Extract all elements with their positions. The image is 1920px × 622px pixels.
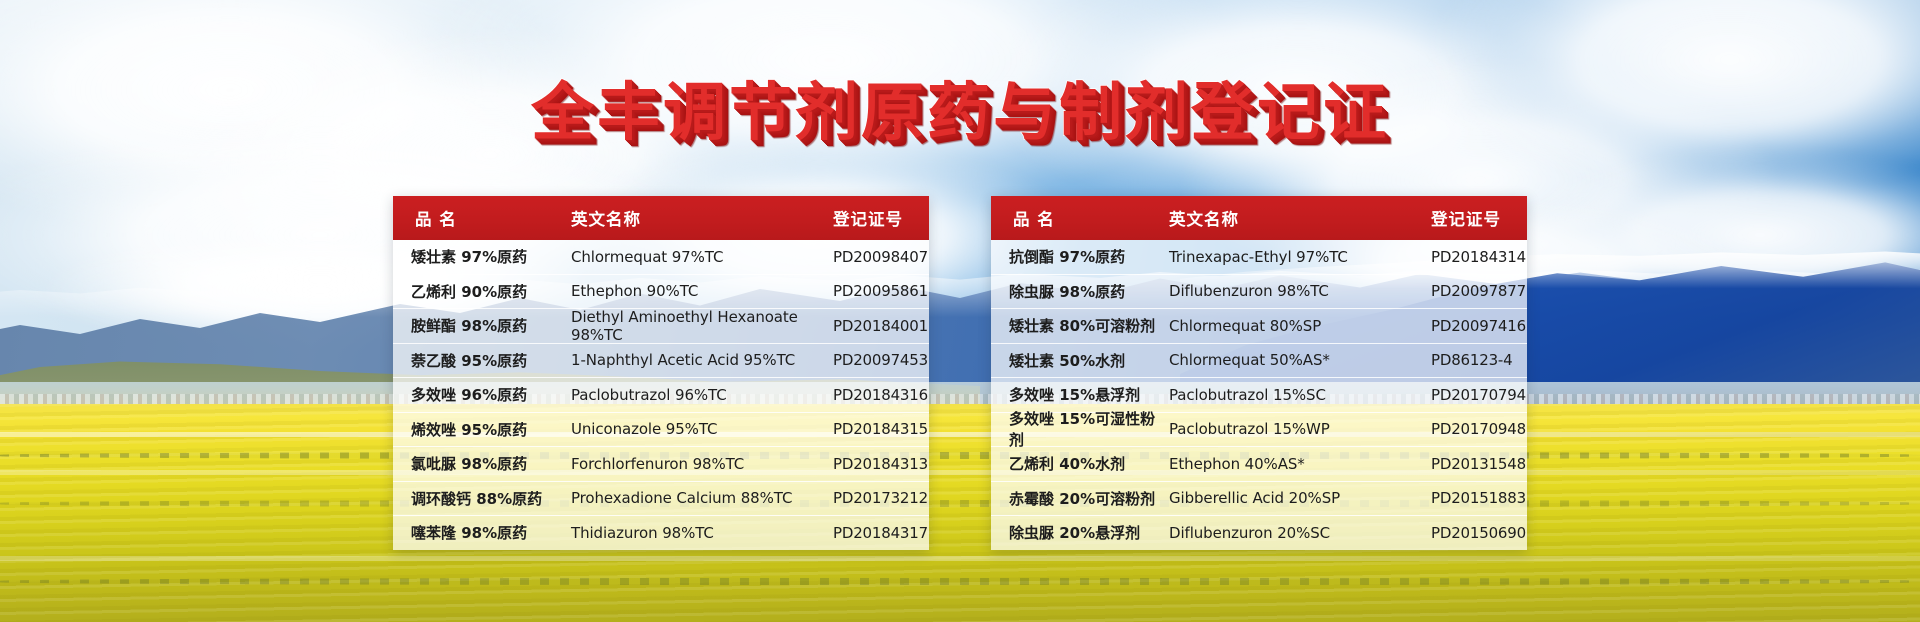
cell-product-name: 矮壮素 50%水剂 bbox=[991, 350, 1169, 371]
registration-tables: 品 名 英文名称 登记证号 矮壮素 97%原药 Chlormequat 97%T… bbox=[0, 196, 1920, 550]
cell-registration-no: PD20097877 bbox=[1431, 282, 1527, 300]
cell-registration-no: PD20184314 bbox=[1431, 248, 1527, 266]
column-header-registration: 登记证号 bbox=[1431, 206, 1527, 230]
table-row: 抗倒酯 97%原药 Trinexapac-Ethyl 97%TC PD20184… bbox=[991, 240, 1527, 275]
table-row: 矮壮素 80%可溶粉剂 Chlormequat 80%SP PD20097416 bbox=[991, 309, 1527, 344]
cell-registration-no: PD20131548 bbox=[1431, 455, 1527, 473]
cell-english-name: Ethephon 40%AS* bbox=[1169, 455, 1431, 473]
cell-product-name: 赤霉酸 20%可溶粉剂 bbox=[991, 488, 1169, 509]
table-row: 乙烯利 40%水剂 Ethephon 40%AS* PD20131548 bbox=[991, 447, 1527, 482]
cell-product-name: 除虫脲 98%原药 bbox=[991, 281, 1169, 302]
cell-english-name: Thidiazuron 98%TC bbox=[571, 524, 833, 542]
cell-registration-no: PD86123-4 bbox=[1431, 351, 1527, 369]
cell-english-name: Forchlorfenuron 98%TC bbox=[571, 455, 833, 473]
table-row: 除虫脲 20%悬浮剂 Diflubenzuron 20%SC PD2015069… bbox=[991, 516, 1527, 550]
cell-english-name: Ethephon 90%TC bbox=[571, 282, 833, 300]
cell-product-name: 胺鲜酯 98%原药 bbox=[393, 315, 571, 336]
table-header-row: 品 名 英文名称 登记证号 bbox=[393, 196, 929, 240]
cell-english-name: Chlormequat 50%AS* bbox=[1169, 351, 1431, 369]
cell-english-name: Paclobutrazol 15%WP bbox=[1169, 420, 1431, 438]
cell-english-name: Trinexapac-Ethyl 97%TC bbox=[1169, 248, 1431, 266]
cell-product-name: 氯吡脲 98%原药 bbox=[393, 453, 571, 474]
cell-english-name: Chlormequat 80%SP bbox=[1169, 317, 1431, 335]
cell-product-name: 乙烯利 40%水剂 bbox=[991, 453, 1169, 474]
cell-registration-no: PD20097453 bbox=[833, 351, 929, 369]
cell-english-name: Diflubenzuron 98%TC bbox=[1169, 282, 1431, 300]
field-road bbox=[0, 556, 1920, 561]
cell-registration-no: PD20095861 bbox=[833, 282, 929, 300]
table-row: 萘乙酸 95%原药 1-Naphthyl Acetic Acid 95%TC P… bbox=[393, 344, 929, 379]
cell-registration-no: PD20184316 bbox=[833, 386, 929, 404]
table-row: 多效唑 15%可湿性粉剂 Paclobutrazol 15%WP PD20170… bbox=[991, 413, 1527, 448]
cell-english-name: Diflubenzuron 20%SC bbox=[1169, 524, 1431, 542]
cell-product-name: 萘乙酸 95%原药 bbox=[393, 350, 571, 371]
cell-product-name: 调环酸钙 88%原药 bbox=[393, 488, 571, 509]
table-row: 赤霉酸 20%可溶粉剂 Gibberellic Acid 20%SP PD201… bbox=[991, 482, 1527, 517]
cell-product-name: 矮壮素 80%可溶粉剂 bbox=[991, 315, 1169, 336]
column-header-registration: 登记证号 bbox=[833, 206, 929, 230]
column-header-english: 英文名称 bbox=[1169, 206, 1431, 230]
table-row: 噻苯隆 98%原药 Thidiazuron 98%TC PD20184317 bbox=[393, 516, 929, 550]
registration-table-left: 品 名 英文名称 登记证号 矮壮素 97%原药 Chlormequat 97%T… bbox=[393, 196, 929, 550]
table-body-left: 矮壮素 97%原药 Chlormequat 97%TC PD20098407 乙… bbox=[393, 240, 929, 550]
cell-product-name: 矮壮素 97%原药 bbox=[393, 246, 571, 267]
table-row: 矮壮素 50%水剂 Chlormequat 50%AS* PD86123-4 bbox=[991, 344, 1527, 379]
cell-registration-no: PD20184315 bbox=[833, 420, 929, 438]
cell-registration-no: PD20151883 bbox=[1431, 489, 1527, 507]
column-header-name: 品 名 bbox=[393, 206, 571, 230]
cell-product-name: 抗倒酯 97%原药 bbox=[991, 246, 1169, 267]
cell-registration-no: PD20150690 bbox=[1431, 524, 1527, 542]
cell-english-name: Paclobutrazol 96%TC bbox=[571, 386, 833, 404]
cell-product-name: 多效唑 15%悬浮剂 bbox=[991, 384, 1169, 405]
cell-english-name: Uniconazole 95%TC bbox=[571, 420, 833, 438]
cell-product-name: 多效唑 96%原药 bbox=[393, 384, 571, 405]
cell-registration-no: PD20097416 bbox=[1431, 317, 1527, 335]
cell-english-name: Diethyl Aminoethyl Hexanoate 98%TC bbox=[571, 308, 833, 344]
cell-english-name: Chlormequat 97%TC bbox=[571, 248, 833, 266]
cell-english-name: 1-Naphthyl Acetic Acid 95%TC bbox=[571, 351, 833, 369]
cell-product-name: 除虫脲 20%悬浮剂 bbox=[991, 522, 1169, 543]
cell-product-name: 乙烯利 90%原药 bbox=[393, 281, 571, 302]
table-row: 多效唑 96%原药 Paclobutrazol 96%TC PD20184316 bbox=[393, 378, 929, 413]
cell-registration-no: PD20184313 bbox=[833, 455, 929, 473]
table-header-row: 品 名 英文名称 登记证号 bbox=[991, 196, 1527, 240]
banner-title-wrap: 全丰调节剂原药与制剂登记证 bbox=[0, 62, 1920, 153]
cell-product-name: 多效唑 15%可湿性粉剂 bbox=[991, 408, 1169, 450]
table-row: 除虫脲 98%原药 Diflubenzuron 98%TC PD20097877 bbox=[991, 275, 1527, 310]
registration-table-right: 品 名 英文名称 登记证号 抗倒酯 97%原药 Trinexapac-Ethyl… bbox=[991, 196, 1527, 550]
cell-registration-no: PD20170794 bbox=[1431, 386, 1527, 404]
table-row: 胺鲜酯 98%原药 Diethyl Aminoethyl Hexanoate 9… bbox=[393, 309, 929, 344]
table-row: 矮壮素 97%原药 Chlormequat 97%TC PD20098407 bbox=[393, 240, 929, 275]
table-row: 调环酸钙 88%原药 Prohexadione Calcium 88%TC PD… bbox=[393, 482, 929, 517]
column-header-english: 英文名称 bbox=[571, 206, 833, 230]
cell-product-name: 烯效唑 95%原药 bbox=[393, 419, 571, 440]
column-header-name: 品 名 bbox=[991, 206, 1169, 230]
cell-registration-no: PD20173212 bbox=[833, 489, 929, 507]
banner-stage: 全丰调节剂原药与制剂登记证 品 名 英文名称 登记证号 矮壮素 97%原药 Ch… bbox=[0, 0, 1920, 622]
cell-registration-no: PD20098407 bbox=[833, 248, 929, 266]
field-treeline bbox=[0, 578, 1920, 585]
table-row: 烯效唑 95%原药 Uniconazole 95%TC PD20184315 bbox=[393, 413, 929, 448]
table-body-right: 抗倒酯 97%原药 Trinexapac-Ethyl 97%TC PD20184… bbox=[991, 240, 1527, 550]
cell-english-name: Prohexadione Calcium 88%TC bbox=[571, 489, 833, 507]
table-row: 乙烯利 90%原药 Ethephon 90%TC PD20095861 bbox=[393, 275, 929, 310]
cell-english-name: Paclobutrazol 15%SC bbox=[1169, 386, 1431, 404]
cell-product-name: 噻苯隆 98%原药 bbox=[393, 522, 571, 543]
table-row: 氯吡脲 98%原药 Forchlorfenuron 98%TC PD201843… bbox=[393, 447, 929, 482]
cell-english-name: Gibberellic Acid 20%SP bbox=[1169, 489, 1431, 507]
cell-registration-no: PD20184317 bbox=[833, 524, 929, 542]
page-title: 全丰调节剂原药与制剂登记证 bbox=[531, 62, 1389, 153]
cell-registration-no: PD20184001 bbox=[833, 317, 929, 335]
cell-registration-no: PD20170948 bbox=[1431, 420, 1527, 438]
